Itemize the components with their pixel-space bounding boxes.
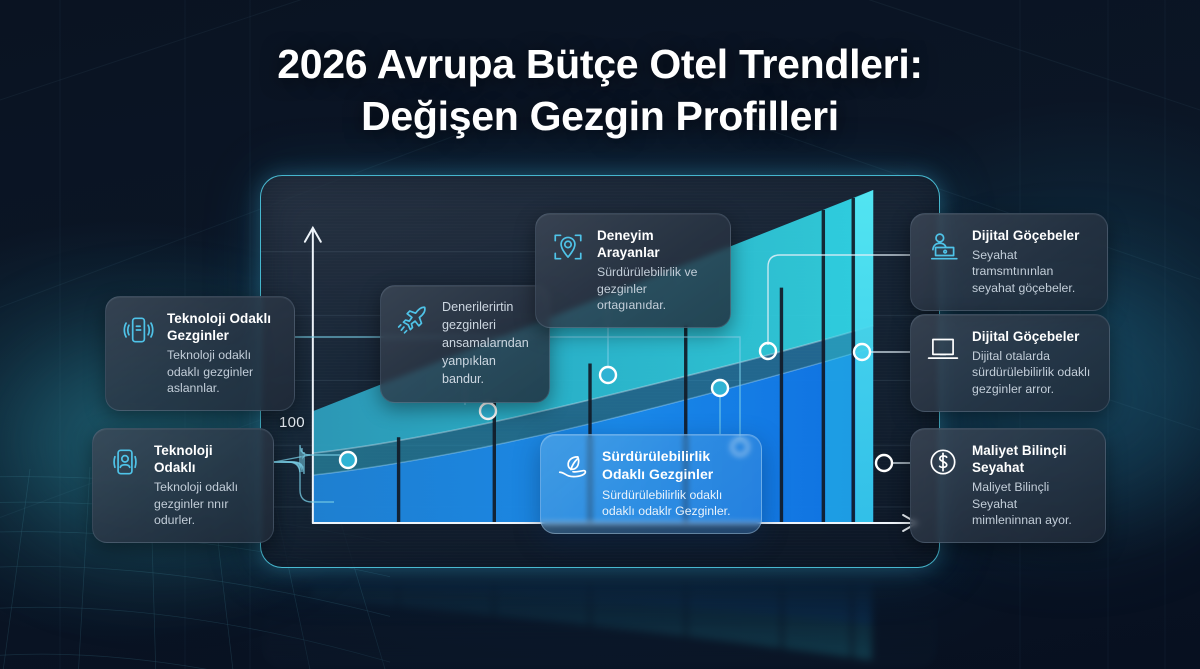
card-body: Maliyet Bilinçli Seyahat mimleninnan ayo… (972, 479, 1090, 528)
title-line-1: 2026 Avrupa Bütçe Otel Trendleri: (277, 41, 923, 87)
card-body: Sürdürülebilirlik odaklı odaklı odaklr G… (602, 487, 746, 520)
card-title: Deneyim Arayanlar (597, 227, 715, 261)
map-pin-scan-icon (550, 229, 586, 265)
card-title: Maliyet Bilinçli Seyahat (972, 442, 1090, 476)
card-cost-conscious-travel[interactable]: Maliyet Bilinçli Seyahat Maliyet Bilinçl… (910, 428, 1106, 543)
card-body: Dijital otalarda sürdürülebilirlik odakl… (972, 348, 1094, 397)
hand-leaf-icon (555, 450, 591, 486)
card-body: Seyahat tramsmtınınlan seyahat göçebeler… (972, 247, 1092, 296)
phone-person-icon (107, 444, 143, 480)
title-line-2: Değişen Gezgin Profilleri (0, 90, 1200, 142)
phone-vibrate-icon (120, 312, 156, 348)
person-laptop-icon (925, 229, 961, 265)
card-digital-nomads-secondary[interactable]: Dijital Göçebeler Dijital otalarda sürdü… (910, 314, 1110, 412)
airplane-icon (395, 301, 431, 337)
panel-reflection (262, 572, 938, 668)
card-tech-focused[interactable]: Teknoloji Odaklı Teknoloji odaklı gezgin… (92, 428, 274, 543)
card-sustainability-focused-travelers[interactable]: Sürdürülebilirlik Odaklı Gezginler Sürdü… (540, 434, 762, 534)
card-title: Sürdürülebilirlik Odaklı Gezginler (602, 448, 746, 484)
y-axis-max-label: 100 (279, 414, 305, 431)
card-tech-focused-travelers[interactable]: Teknoloji Odaklı Gezginler Teknoloji oda… (105, 296, 295, 411)
card-body: Teknoloji odaklı odaklı gezginler aslann… (167, 347, 279, 396)
page-title: 2026 Avrupa Bütçe Otel Trendleri: Değişe… (0, 38, 1200, 142)
card-title: Teknoloji Odaklı Gezginler (167, 310, 279, 344)
card-digital-nomads-primary[interactable]: Dijital Göçebeler Seyahat tramsmtınınlan… (910, 213, 1108, 311)
card-flight-deals[interactable]: Denerilerirtin gezginleri ansamalarndan … (380, 285, 550, 403)
card-body: Sürdürülebilirlik ve gezginler ortagıanı… (597, 264, 715, 313)
laptop-icon (925, 330, 961, 366)
card-title: Teknoloji Odaklı (154, 442, 258, 476)
card-title: Dijital Göçebeler (972, 328, 1094, 345)
card-experience-seekers[interactable]: Deneyim Arayanlar Sürdürülebilirlik ve g… (535, 213, 731, 328)
dollar-circle-icon (925, 444, 961, 480)
card-body: Denerilerirtin gezginleri ansamalarndan … (442, 299, 534, 388)
infographic-canvas: 2026 Avrupa Bütçe Otel Trendleri: Değişe… (0, 0, 1200, 669)
card-body: Teknoloji odaklı gezginler nnır odurler. (154, 479, 258, 528)
card-title: Dijital Göçebeler (972, 227, 1092, 244)
